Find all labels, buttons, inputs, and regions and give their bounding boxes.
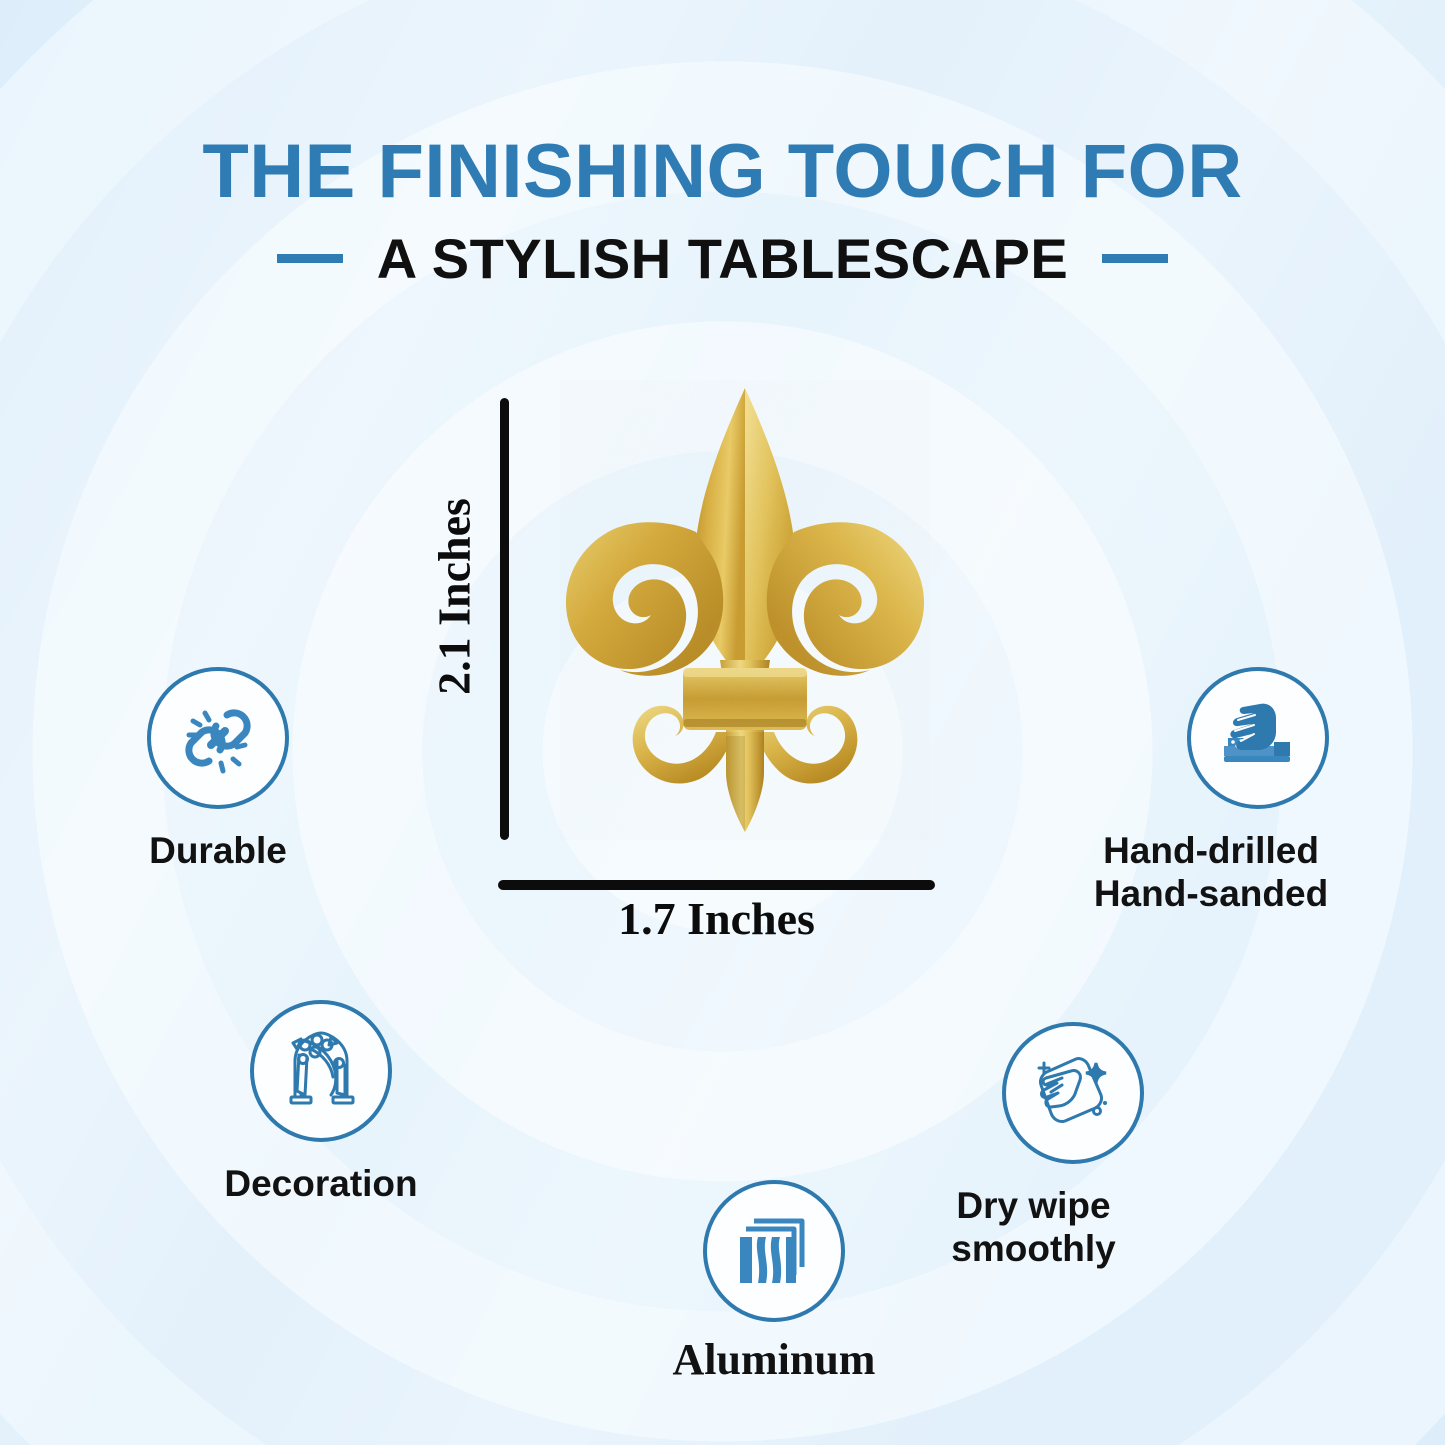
feature-handmade-circle xyxy=(1187,667,1329,809)
feature-drywipe-label: Dry wipe smoothly xyxy=(884,1184,1184,1271)
metal-sheets-icon xyxy=(732,1209,816,1293)
feature-decoration[interactable]: Decoration xyxy=(191,1000,451,1205)
fleur-de-lis-product-image xyxy=(520,380,970,850)
page-subtitle: A STYLISH TABLESCAPE xyxy=(377,226,1068,291)
page-title: THE FINISHING TOUCH FOR xyxy=(0,128,1445,215)
feature-aluminum[interactable]: Aluminum xyxy=(649,1180,899,1385)
dash-left-icon xyxy=(277,254,343,263)
feature-aluminum-circle xyxy=(703,1180,845,1322)
dash-right-icon xyxy=(1102,254,1168,263)
feature-handmade-label: Hand-drilled Hand-sanded xyxy=(1046,829,1376,916)
chain-link-icon xyxy=(175,695,261,781)
feature-decoration-label: Decoration xyxy=(191,1162,451,1205)
height-dimension-line xyxy=(500,398,509,840)
product-dimension-group: 2.1 Inches 1.7 Inches xyxy=(500,380,970,940)
feature-handmade[interactable]: Hand-drilled Hand-sanded xyxy=(1187,667,1329,916)
feature-durable-circle xyxy=(147,667,289,809)
feature-drywipe[interactable]: Dry wipe smoothly xyxy=(1002,1022,1144,1271)
width-dimension-line xyxy=(498,880,935,890)
width-dimension-label: 1.7 Inches xyxy=(498,892,935,945)
hand-sanding-icon xyxy=(1214,694,1302,782)
subtitle-row: A STYLISH TABLESCAPE xyxy=(0,226,1445,291)
infographic-canvas: THE FINISHING TOUCH FOR A STYLISH TABLES… xyxy=(0,0,1445,1445)
feature-decoration-circle xyxy=(250,1000,392,1142)
height-dimension-label: 2.1 Inches xyxy=(428,447,481,747)
wedding-arch-icon xyxy=(275,1025,367,1117)
feature-durable[interactable]: Durable xyxy=(103,667,333,872)
feature-aluminum-label: Aluminum xyxy=(649,1334,899,1385)
feature-durable-label: Durable xyxy=(103,829,333,872)
hand-wiping-cloth-icon xyxy=(1029,1049,1117,1137)
feature-drywipe-circle xyxy=(1002,1022,1144,1164)
